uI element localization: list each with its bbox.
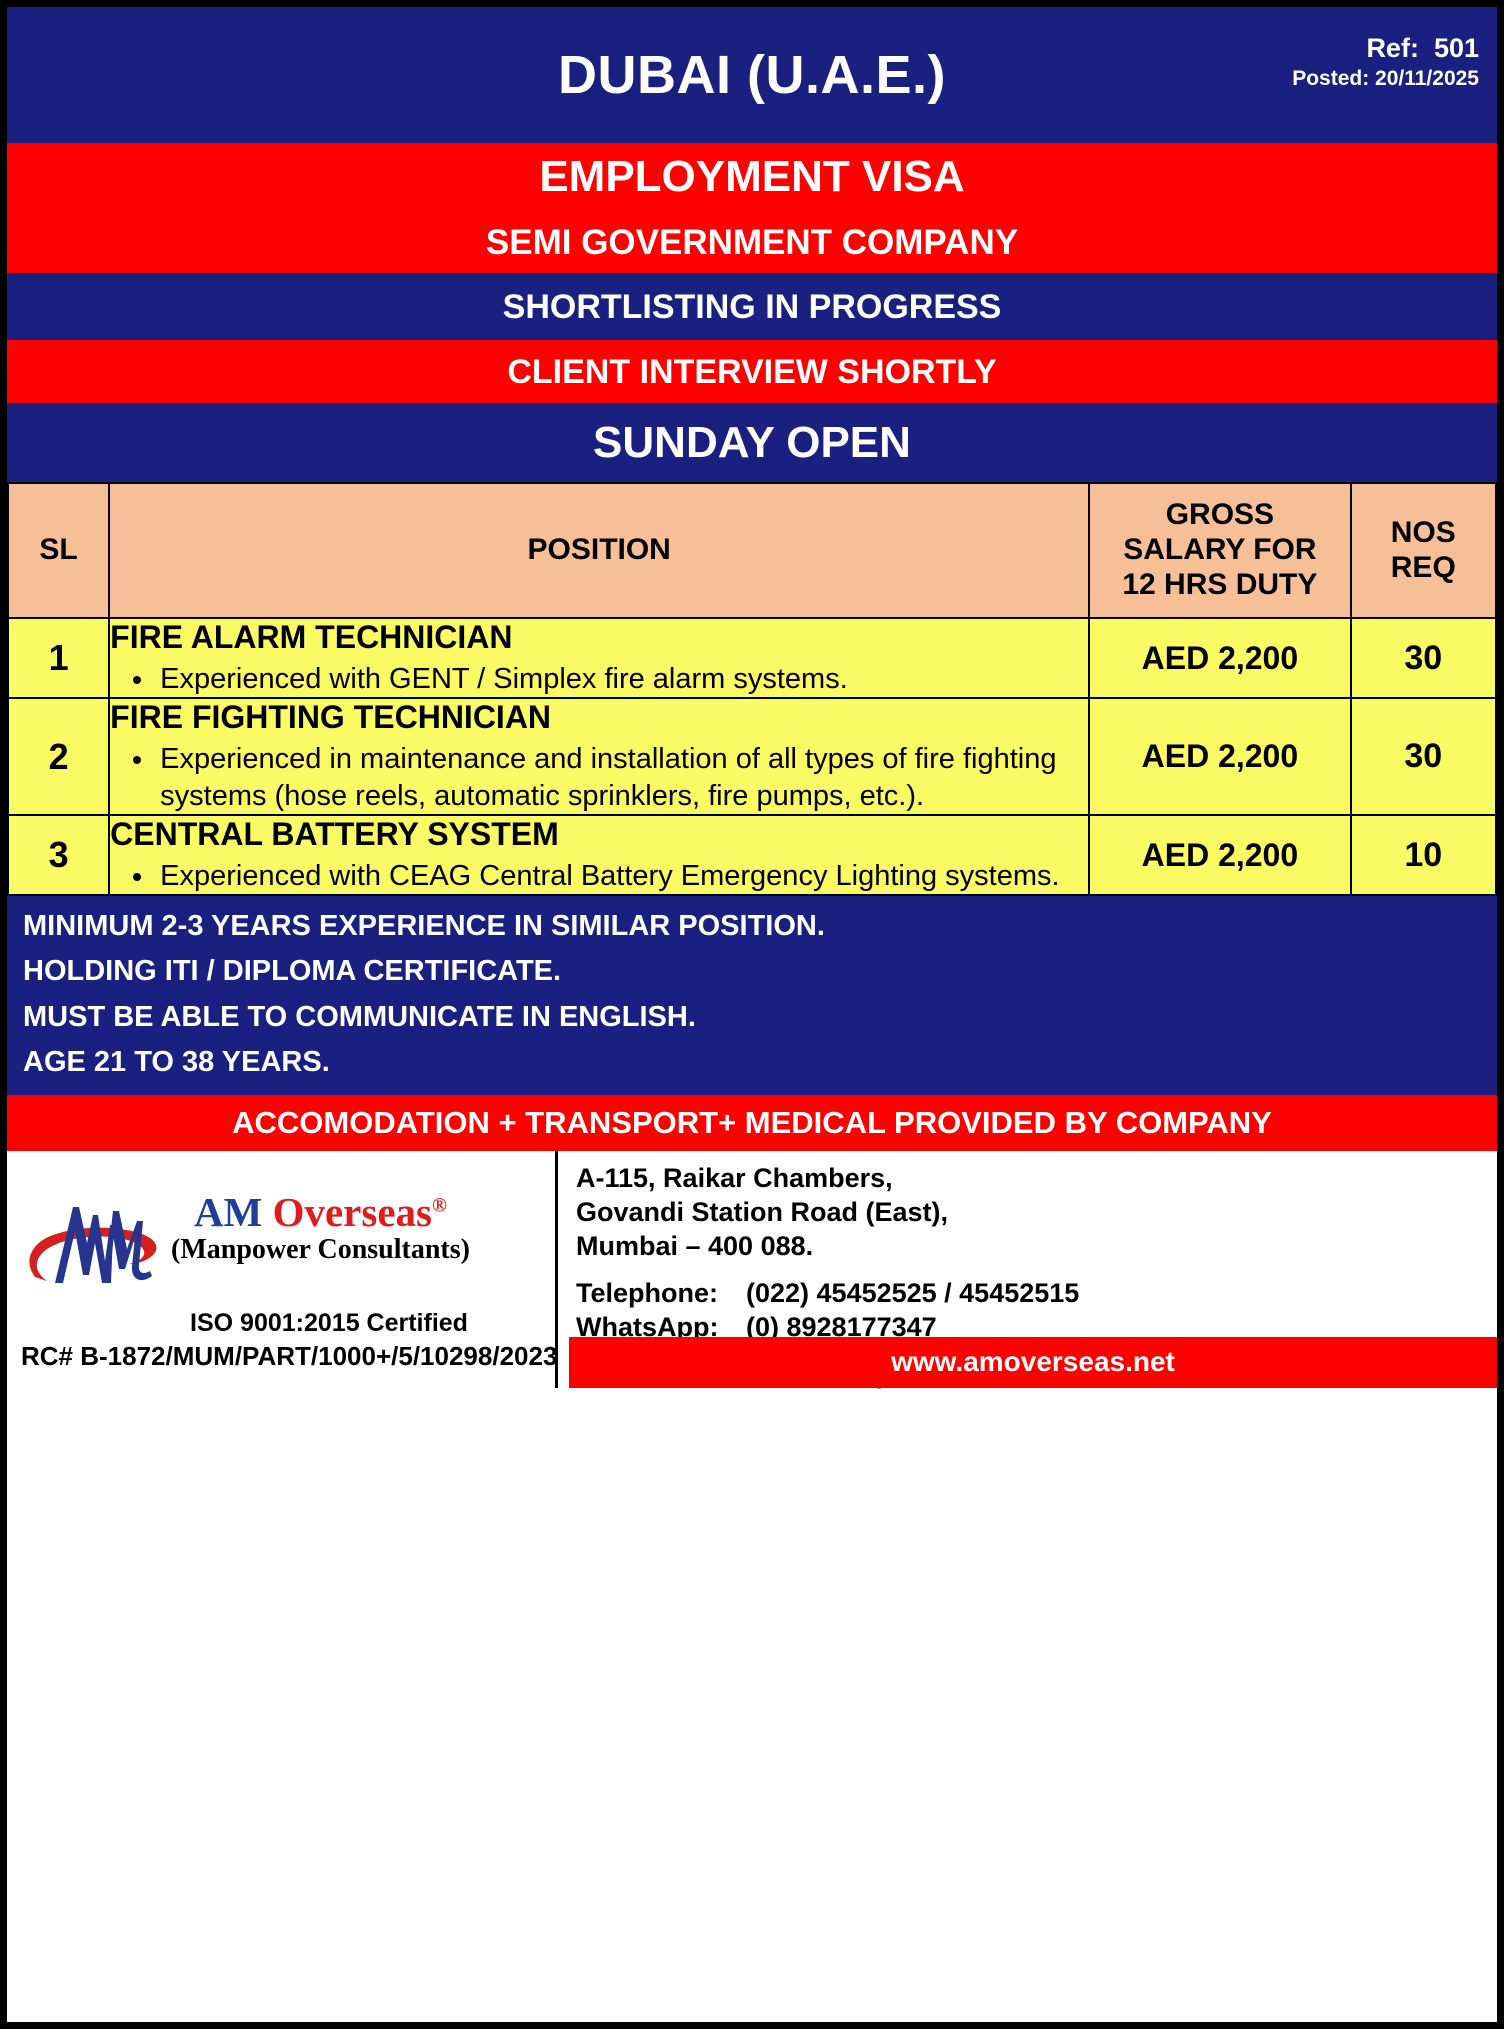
table-header-row: SL POSITION GROSS SALARY FOR 12 HRS DUTY… xyxy=(8,483,1496,618)
row-sl: 1 xyxy=(8,618,109,698)
company-type-label: SEMI GOVERNMENT COMPANY xyxy=(486,225,1018,260)
row-sl: 2 xyxy=(8,698,109,815)
address-line-2: Govandi Station Road (East), xyxy=(576,1195,1497,1229)
row-position: FIRE ALARM TECHNICIAN Experienced with G… xyxy=(109,618,1089,698)
column-header-sl: SL xyxy=(8,483,109,618)
sunday-open-band: SUNDAY OPEN xyxy=(7,403,1497,482)
shortlisting-label: SHORTLISTING IN PROGRESS xyxy=(503,290,1002,324)
row-sl: 3 xyxy=(8,815,109,895)
list-item: Experienced in maintenance and installat… xyxy=(156,741,1088,814)
brand-text: AM Overseas® (Manpower Consultants) xyxy=(171,1192,470,1266)
position-title: FIRE ALARM TECHNICIAN xyxy=(110,619,1088,657)
salary-header-line3: 12 HRS DUTY xyxy=(1090,568,1349,603)
shortlisting-band: SHORTLISTING IN PROGRESS xyxy=(7,273,1497,340)
row-nos-req: 10 xyxy=(1351,815,1496,895)
website-label: www.amoverseas.net xyxy=(891,1346,1175,1378)
requirement-line: MINIMUM 2-3 YEARS EXPERIENCE IN SIMILAR … xyxy=(23,908,1481,945)
footer-company-block: AM Overseas® (Manpower Consultants) ISO … xyxy=(7,1151,558,1388)
rc-number-label: RC# B-1872/MUM/PART/1000+/5/10298/2023 xyxy=(21,1341,557,1372)
benefits-band: ACCOMODATION + TRANSPORT+ MEDICAL PROVID… xyxy=(7,1095,1497,1151)
table-row: 2 FIRE FIGHTING TECHNICIAN Experienced i… xyxy=(8,698,1496,815)
footer-contact-block: A-115, Raikar Chambers, Govandi Station … xyxy=(558,1151,1497,1388)
brand-name: AM Overseas® xyxy=(171,1192,470,1233)
address-line-3: Mumbai – 400 088. xyxy=(576,1229,1497,1263)
client-interview-band: CLIENT INTERVIEW SHORTLY xyxy=(7,340,1497,403)
company-type-band: SEMI GOVERNMENT COMPANY xyxy=(7,211,1497,273)
benefits-label: ACCOMODATION + TRANSPORT+ MEDICAL PROVID… xyxy=(232,1105,1272,1141)
phone-block: Telephone:(022) 45452525 / 45452515 What… xyxy=(576,1276,1497,1344)
position-requirements: Experienced with CEAG Central Battery Em… xyxy=(110,858,1088,895)
job-advertisement-poster: DUBAI (U.A.E.) Ref: 501 Posted: 20/11/20… xyxy=(0,0,1504,2029)
row-salary: AED 2,200 xyxy=(1089,618,1350,698)
reference-block: Ref: 501 Posted: 20/11/2025 xyxy=(1292,31,1479,92)
vacancy-table: SL POSITION GROSS SALARY FOR 12 HRS DUTY… xyxy=(7,482,1497,896)
iso-certification-label: ISO 9001:2015 Certified xyxy=(7,1309,555,1338)
telephone-value: (022) 45452525 / 45452515 xyxy=(746,1278,1079,1308)
salary-header-line1: GROSS xyxy=(1090,498,1349,533)
am-overseas-logo-icon xyxy=(17,1165,167,1293)
page-title: DUBAI (U.A.E.) xyxy=(558,48,946,102)
requirement-line: HOLDING ITI / DIPLOMA CERTIFICATE. xyxy=(23,953,1481,990)
row-salary: AED 2,200 xyxy=(1089,815,1350,895)
posted-date: Posted: 20/11/2025 xyxy=(1292,66,1479,93)
vacancy-table-body: 1 FIRE ALARM TECHNICIAN Experienced with… xyxy=(8,618,1496,895)
row-nos-req: 30 xyxy=(1351,698,1496,815)
nos-header-line2: REQ xyxy=(1352,551,1495,586)
position-requirements: Experienced with GENT / Simplex fire ala… xyxy=(110,661,1088,698)
brand-name-overseas: Overseas xyxy=(273,1189,432,1235)
column-header-nos-req: NOS REQ xyxy=(1351,483,1496,618)
visa-type-label: EMPLOYMENT VISA xyxy=(539,155,964,199)
nos-header-line1: NOS xyxy=(1352,516,1495,551)
position-title: FIRE FIGHTING TECHNICIAN xyxy=(110,699,1088,737)
client-interview-label: CLIENT INTERVIEW SHORTLY xyxy=(507,355,996,389)
salary-header-line2: SALARY FOR xyxy=(1090,533,1349,568)
list-item: Experienced with GENT / Simplex fire ala… xyxy=(156,661,1088,698)
table-row: 1 FIRE ALARM TECHNICIAN Experienced with… xyxy=(8,618,1496,698)
registered-trademark-icon: ® xyxy=(432,1194,447,1216)
column-header-position: POSITION xyxy=(109,483,1089,618)
row-nos-req: 30 xyxy=(1351,618,1496,698)
table-row: 3 CENTRAL BATTERY SYSTEM Experienced wit… xyxy=(8,815,1496,895)
telephone-label: Telephone: xyxy=(576,1276,746,1310)
general-requirements-block: MINIMUM 2-3 YEARS EXPERIENCE IN SIMILAR … xyxy=(7,896,1497,1094)
address-line-1: A-115, Raikar Chambers, xyxy=(576,1161,1497,1195)
visa-type-band: EMPLOYMENT VISA xyxy=(7,143,1497,211)
row-position: FIRE FIGHTING TECHNICIAN Experienced in … xyxy=(109,698,1089,815)
footer: AM Overseas® (Manpower Consultants) ISO … xyxy=(7,1151,1497,1388)
brand-name-am: AM xyxy=(194,1189,262,1235)
row-position: CENTRAL BATTERY SYSTEM Experienced with … xyxy=(109,815,1089,895)
reference-number: Ref: 501 xyxy=(1292,31,1479,66)
column-header-salary: GROSS SALARY FOR 12 HRS DUTY xyxy=(1089,483,1350,618)
brand-row: AM Overseas® (Manpower Consultants) xyxy=(7,1151,555,1293)
row-salary: AED 2,200 xyxy=(1089,698,1350,815)
requirement-line: MUST BE ABLE TO COMMUNICATE IN ENGLISH. xyxy=(23,999,1481,1036)
brand-subtitle: (Manpower Consultants) xyxy=(171,1235,470,1266)
position-requirements: Experienced in maintenance and installat… xyxy=(110,741,1088,814)
position-title: CENTRAL BATTERY SYSTEM xyxy=(110,816,1088,854)
telephone-row: Telephone:(022) 45452525 / 45452515 xyxy=(576,1276,1497,1310)
sunday-open-label: SUNDAY OPEN xyxy=(593,421,911,465)
website-bar[interactable]: www.amoverseas.net xyxy=(569,1337,1497,1388)
header-title-band: DUBAI (U.A.E.) Ref: 501 Posted: 20/11/20… xyxy=(7,7,1497,143)
list-item: Experienced with CEAG Central Battery Em… xyxy=(156,858,1088,895)
requirement-line: AGE 21 TO 38 YEARS. xyxy=(23,1044,1481,1081)
